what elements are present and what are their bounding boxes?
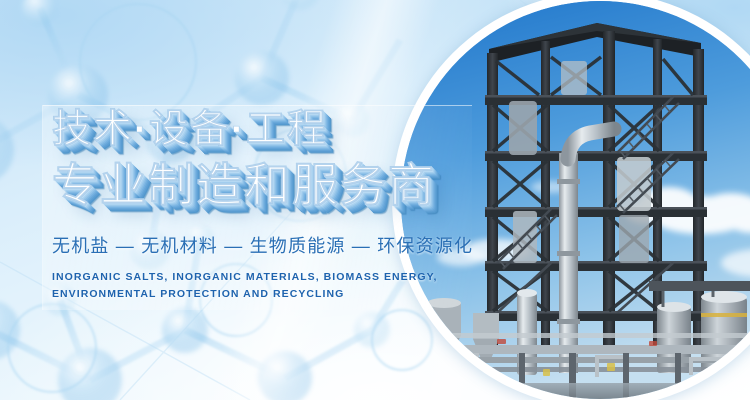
banner-text-block: 技术·设备·工程 专业制造和服务商 无机盐 — 无机材料 — 生物质能源 — 环…: [52, 110, 482, 304]
subtitle-english: INORGANIC SALTS, INORGANIC MATERIALS, BI…: [52, 269, 464, 304]
headline-line-1: 技术·设备·工程: [52, 110, 482, 149]
subtitle-chinese: 无机盐 — 无机材料 — 生物质能源 — 环保资源化: [52, 232, 482, 258]
promo-banner: 技术·设备·工程 专业制造和服务商 无机盐 — 无机材料 — 生物质能源 — 环…: [0, 0, 750, 400]
headline-line-2: 专业制造和服务商: [52, 162, 482, 208]
